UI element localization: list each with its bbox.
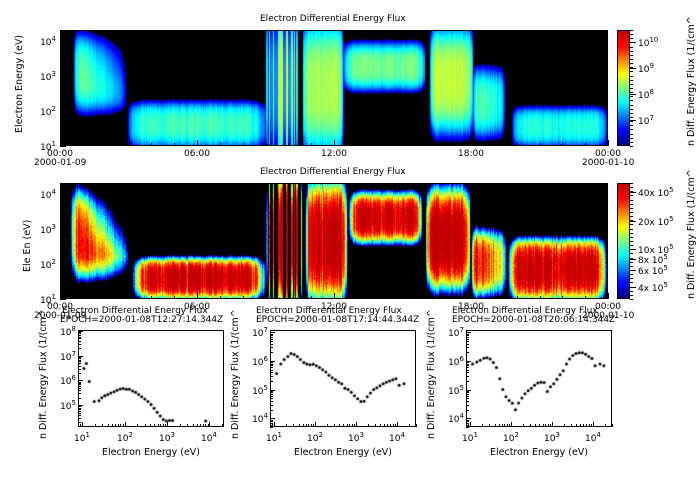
axis-tick	[612, 424, 613, 427]
spectrum-xtick-label: 104	[383, 431, 411, 444]
axis-tick	[630, 47, 633, 48]
axis-tick	[630, 187, 633, 188]
axis-tick	[630, 258, 633, 259]
colorbar-tick-label: 6x 105	[638, 264, 668, 277]
xtick-sublabel: 2000-01-09	[34, 158, 86, 168]
axis-tick	[416, 424, 417, 427]
ytick-label: 101	[26, 293, 56, 306]
axis-tick	[630, 80, 633, 81]
axis-tick	[630, 220, 633, 221]
spectrum-xtick-label: 104	[195, 431, 223, 444]
axis-tick	[630, 287, 633, 288]
colorbar-tick-label: 108	[638, 88, 654, 101]
axis-tick	[630, 183, 633, 184]
spectrum-ytick-label: 106	[48, 374, 76, 387]
top-spectrogram-image	[61, 31, 607, 145]
xtick-sublabel: 2000-01-10	[582, 158, 634, 168]
axis-tick	[630, 192, 636, 193]
ytick-label: 104	[26, 188, 56, 201]
middle-colorbar	[617, 183, 630, 299]
ytick-label: 104	[26, 35, 56, 48]
colorbar-tick-label: 40x 105	[638, 186, 674, 199]
axis-tick	[630, 291, 633, 292]
axis-tick	[630, 88, 633, 89]
colorbar-tick-label: 10x 105	[638, 243, 674, 256]
middle-colorbar-label-text: n Diff. Energy Flux (1/(cm^	[686, 169, 697, 299]
axis-tick	[630, 59, 633, 60]
axis-tick	[630, 278, 633, 279]
spectrum-ylabel-3: n Diff. Energy Flux (1/(cm^	[426, 439, 556, 450]
axis-tick	[630, 105, 633, 106]
spectrum-ytick-label: 106	[436, 355, 464, 368]
axis-tick	[630, 42, 633, 43]
axis-tick	[630, 84, 633, 85]
axis-tick	[630, 200, 633, 201]
axis-tick	[630, 30, 633, 31]
middle-spectrogram-image	[61, 184, 607, 298]
axis-tick	[630, 134, 633, 135]
top-spectrogram-title: Electron Differential Energy Flux	[260, 14, 406, 24]
top-colorbar-label: n Diff. Energy Flux (1/(cm^	[686, 146, 697, 157]
spectrum-ylabel-1: n Diff. Energy Flux (1/(cm^	[38, 439, 168, 450]
spectrum-points-1	[79, 331, 223, 426]
axis-tick	[630, 129, 633, 130]
top-colorbar	[617, 30, 630, 146]
axis-tick	[630, 146, 633, 147]
axis-tick	[630, 92, 633, 93]
spectrum-ytick-label: 106	[240, 355, 268, 368]
axis-tick	[630, 259, 636, 260]
axis-tick	[270, 427, 273, 428]
ytick-label: 103	[26, 70, 56, 83]
axis-tick	[630, 120, 636, 121]
axis-tick	[630, 51, 633, 52]
spectrum-plot-2	[270, 330, 416, 427]
top-colorbar-gradient	[618, 31, 629, 145]
axis-tick	[630, 241, 633, 242]
spectrum-ytick-label: 108	[48, 325, 76, 338]
axis-tick	[630, 96, 633, 97]
axis-tick	[630, 195, 633, 196]
axis-tick	[630, 142, 633, 143]
axis-tick	[630, 71, 633, 72]
axis-tick	[630, 270, 636, 271]
axis-tick	[630, 94, 636, 95]
spectrum-epoch-3: EPOCH=2000-01-08T20:06:14.344Z	[452, 315, 615, 325]
colorbar-tick-label: 20x 105	[638, 215, 674, 228]
axis-tick	[630, 55, 633, 56]
spectrum-plot-3	[466, 330, 612, 427]
axis-tick	[630, 212, 633, 213]
middle-colorbar-label: n Diff. Energy Flux (1/(cm^	[686, 299, 697, 310]
axis-tick	[630, 216, 633, 217]
axis-tick	[630, 262, 633, 263]
axis-tick	[630, 299, 633, 300]
axis-tick	[630, 249, 633, 250]
axis-tick	[630, 253, 633, 254]
spectrum-ytick-label: 105	[436, 384, 464, 397]
spectrum-epoch-2: EPOCH=2000-01-08T17:14:44.344Z	[256, 315, 419, 325]
axis-tick	[630, 76, 633, 77]
axis-tick	[630, 229, 633, 230]
axis-tick	[630, 34, 633, 35]
axis-tick	[630, 208, 633, 209]
top-spectrogram-plot	[60, 30, 608, 146]
axis-tick	[60, 299, 66, 300]
xtick-label: 00:00	[592, 149, 624, 159]
axis-tick	[630, 233, 633, 234]
spectrum-xtick-label: 104	[579, 431, 607, 444]
axis-tick	[630, 138, 633, 139]
axis-tick	[630, 113, 633, 114]
middle-ylabel-text: Ele En (eV)	[22, 220, 33, 272]
spectrum-ytick-label: 107	[48, 350, 76, 363]
top-ylabel-text: Electron Energy (eV)	[14, 35, 25, 133]
ytick-label: 102	[26, 105, 56, 118]
spectrum-ytick-label: 105	[48, 399, 76, 412]
colorbar-tick-label: 1010	[638, 36, 658, 49]
axis-tick	[630, 68, 636, 69]
axis-tick	[466, 427, 469, 428]
colorbar-tick-label: 8x 105	[638, 253, 668, 266]
axis-tick	[630, 245, 633, 246]
axis-tick	[630, 191, 633, 192]
axis-tick	[630, 274, 633, 275]
axis-tick	[630, 249, 636, 250]
xtick-label: 06:00	[181, 149, 213, 159]
axis-tick	[608, 293, 609, 299]
spectrum-ytick-label: 107	[240, 326, 268, 339]
axis-tick	[630, 67, 633, 68]
axis-tick	[608, 140, 609, 146]
middle-spectrogram-plot	[60, 183, 608, 299]
spectrum-epoch-1: EPOCH=2000-01-08T12:27:14.344Z	[60, 315, 223, 325]
axis-tick	[630, 109, 633, 110]
spectrum-ylabel-2: n Diff. Energy Flux (1/(cm^	[230, 439, 360, 450]
axis-tick	[630, 270, 633, 271]
axis-tick	[630, 287, 636, 288]
spectrum-ytick-label: 104	[240, 412, 268, 425]
xtick-label: 00:00	[44, 149, 76, 159]
spectrum-points-3	[467, 331, 611, 426]
axis-tick	[630, 121, 633, 122]
spectrum-points-2	[271, 331, 415, 426]
spectrum-plot-1	[78, 330, 224, 427]
axis-tick	[630, 204, 633, 205]
axis-tick	[630, 117, 633, 118]
spectrum-ytick-label: 105	[240, 384, 268, 397]
axis-tick	[630, 42, 636, 43]
axis-tick	[60, 146, 66, 147]
spectrum-ytick-label: 104	[436, 412, 464, 425]
axis-tick	[630, 282, 633, 283]
colorbar-tick-label: 107	[638, 114, 654, 127]
colorbar-tick-label: 109	[638, 62, 654, 75]
middle-spectrogram-title: Electron Differential Energy Flux	[260, 167, 406, 177]
axis-tick	[630, 100, 633, 101]
top-colorbar-label-text: n Diff. Energy Flux (1/(cm^	[686, 16, 697, 146]
spectrum-ytick-label: 107	[436, 326, 464, 339]
axis-tick	[630, 221, 636, 222]
figure-canvas: Electron Differential Energy Flux Electr…	[0, 0, 697, 492]
axis-tick	[630, 63, 633, 64]
xtick-label: 18:00	[455, 149, 487, 159]
axis-tick	[630, 295, 633, 296]
xtick-label: 12:00	[318, 149, 350, 159]
colorbar-tick-label: 4x 105	[638, 281, 668, 294]
axis-tick	[630, 125, 633, 126]
axis-tick	[630, 237, 633, 238]
axis-tick	[630, 266, 633, 267]
axis-tick	[630, 38, 633, 39]
middle-colorbar-gradient	[618, 184, 629, 298]
axis-tick	[630, 224, 633, 225]
